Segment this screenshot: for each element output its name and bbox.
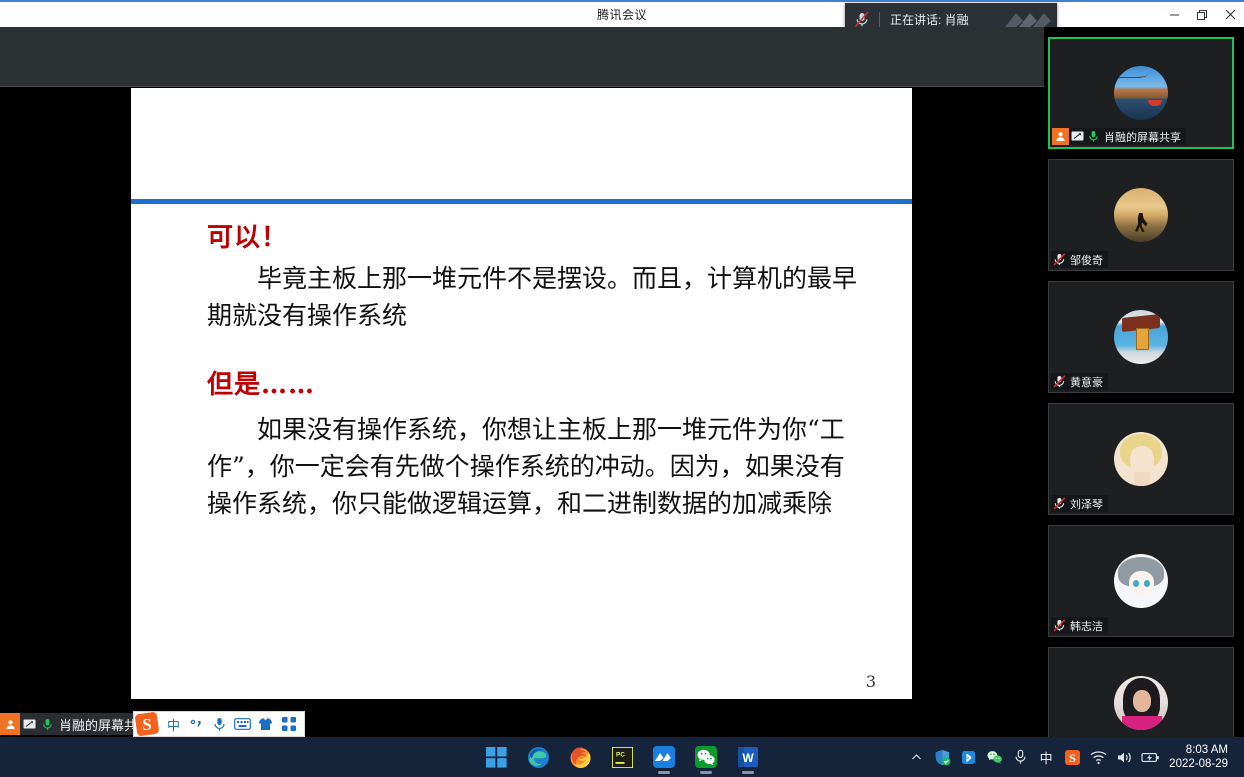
slide-paragraph-1: 毕竟主板上那一堆元件不是摆设。而且，计算机的最早期就没有操作系统 — [207, 260, 867, 334]
mic-muted-icon — [1051, 373, 1067, 390]
svg-text:S: S — [142, 715, 151, 734]
participant-tile[interactable]: 肖融的屏幕共享 — [1048, 37, 1234, 149]
taskbar-app-word[interactable]: W — [735, 741, 761, 773]
participant-label: 刘泽琴 — [1051, 495, 1108, 512]
slide-spacer — [207, 334, 867, 370]
mic-muted-icon — [1051, 251, 1067, 268]
slide-heading-2: 但是…… — [207, 370, 867, 401]
running-indicator — [700, 771, 712, 774]
avatar — [1114, 432, 1168, 486]
minimize-button[interactable] — [1160, 2, 1188, 27]
clock-time: 8:03 AM — [1169, 743, 1228, 757]
participant-tile[interactable]: 邹俊奇 — [1048, 159, 1234, 271]
slide-divider-line — [131, 199, 912, 204]
participant-label: 韩志洁 — [1051, 617, 1108, 634]
slide-text-body: 可以！ 毕竟主板上那一堆元件不是摆设。而且，计算机的最早期就没有操作系统 但是…… — [207, 223, 867, 522]
participant-name: 邹俊奇 — [1067, 252, 1103, 268]
mic-on-icon — [1085, 128, 1101, 145]
speaking-text: 正在讲话: 肖融 — [880, 11, 997, 28]
participant-label: 邹俊奇 — [1051, 251, 1108, 268]
ime-voice-icon[interactable] — [208, 711, 231, 737]
clock-date: 2022-08-29 — [1169, 757, 1228, 771]
tray-wifi-icon[interactable] — [1085, 737, 1111, 777]
taskbar-clock[interactable]: 8:03 AM 2022-08-29 — [1163, 743, 1236, 771]
svg-text:PC: PC — [616, 751, 625, 758]
window-title: 腾讯会议 — [0, 2, 1244, 27]
participant-name: 韩志洁 — [1067, 618, 1103, 634]
participant-tile[interactable]: 刘泽琴 — [1048, 403, 1234, 515]
participant-label: 黄意豪 — [1051, 373, 1108, 390]
participant-tile[interactable]: 黄意豪 — [1048, 281, 1234, 393]
taskbar-apps: PC — [483, 741, 761, 773]
tray-battery-icon[interactable] — [1137, 737, 1163, 777]
running-indicator — [658, 771, 670, 774]
tray-microphone-icon[interactable] — [1007, 737, 1033, 777]
shared-screen-area[interactable]: 可以！ 毕竟主板上那一堆元件不是摆设。而且，计算机的最早期就没有操作系统 但是…… — [0, 27, 1044, 717]
ime-apps-icon[interactable] — [277, 711, 300, 737]
tray-bluetooth-icon[interactable] — [955, 737, 981, 777]
tray-volume-icon[interactable] — [1111, 737, 1137, 777]
avatar — [1114, 188, 1168, 242]
participants-rail[interactable]: 肖融的屏幕共享 邹俊奇 — [1044, 27, 1244, 727]
participant-tile[interactable]: 韩志洁 — [1048, 525, 1234, 637]
avatar — [1114, 676, 1168, 730]
participant-label: 肖融的屏幕共享 — [1052, 128, 1186, 145]
slide-paragraph-2: 如果没有操作系统，你想让主板上那一堆元件为你“工作”，你一定会有先做个操作系统的… — [207, 411, 867, 522]
close-button[interactable] — [1216, 2, 1244, 27]
windows-taskbar: PC — [0, 737, 1244, 777]
mic-muted-icon — [1051, 495, 1067, 512]
tray-defender-icon[interactable] — [929, 737, 955, 777]
host-icon — [1052, 128, 1069, 145]
participant-name: 黄意豪 — [1067, 374, 1103, 390]
screen-share-icon — [20, 713, 38, 735]
tray-sogou-icon[interactable]: S — [1059, 737, 1085, 777]
taskbar-app-firefox[interactable] — [567, 741, 593, 773]
participant-name: 刘泽琴 — [1067, 496, 1103, 512]
screen-share-icon — [1069, 128, 1085, 145]
tray-overflow-chevron-icon[interactable] — [903, 737, 929, 777]
taskbar-app-edge[interactable] — [525, 741, 551, 773]
avatar — [1114, 66, 1168, 120]
taskbar-app-tencent-meeting[interactable] — [651, 741, 677, 773]
ime-punctuation-button[interactable] — [185, 711, 208, 737]
sogou-ime-panel[interactable]: S 中 — [133, 711, 305, 737]
ime-mode-button[interactable]: 中 — [162, 711, 185, 737]
tray-wechat-icon[interactable] — [981, 737, 1007, 777]
host-icon — [0, 713, 20, 735]
mic-on-icon — [38, 713, 56, 735]
ime-keyboard-icon[interactable] — [231, 711, 254, 737]
window-titlebar: 腾讯会议 — [0, 0, 1244, 27]
svg-text:W: W — [742, 751, 754, 765]
presentation-chrome-bar — [0, 27, 1044, 87]
slide-heading-1: 可以！ — [207, 223, 867, 254]
avatar — [1114, 310, 1168, 364]
participant-name: 肖融的屏幕共享 — [1101, 129, 1181, 145]
screen-root: 腾讯会议 — [0, 0, 1244, 777]
svg-text:S: S — [1069, 751, 1076, 765]
slide-page-number: 3 — [866, 672, 876, 691]
taskbar-app-pycharm[interactable]: PC — [609, 741, 635, 773]
avatar — [1114, 554, 1168, 608]
tray-ime-icon[interactable]: 中 — [1033, 737, 1059, 777]
start-button[interactable] — [483, 741, 509, 773]
ime-skin-icon[interactable] — [254, 711, 277, 737]
mic-muted-icon — [845, 11, 879, 28]
powerpoint-slide: 可以！ 毕竟主板上那一堆元件不是摆设。而且，计算机的最早期就没有操作系统 但是…… — [131, 88, 912, 699]
system-tray: 中 S — [903, 737, 1236, 777]
window-controls — [1160, 2, 1244, 27]
mic-muted-icon — [1051, 617, 1067, 634]
running-indicator — [742, 771, 754, 774]
restore-button[interactable] — [1188, 2, 1216, 27]
ime-floating-toolbar[interactable]: 肖融的屏幕共享 S 中 — [0, 713, 305, 735]
sogou-logo-icon[interactable]: S — [132, 711, 162, 737]
taskbar-app-wechat[interactable] — [693, 741, 719, 773]
